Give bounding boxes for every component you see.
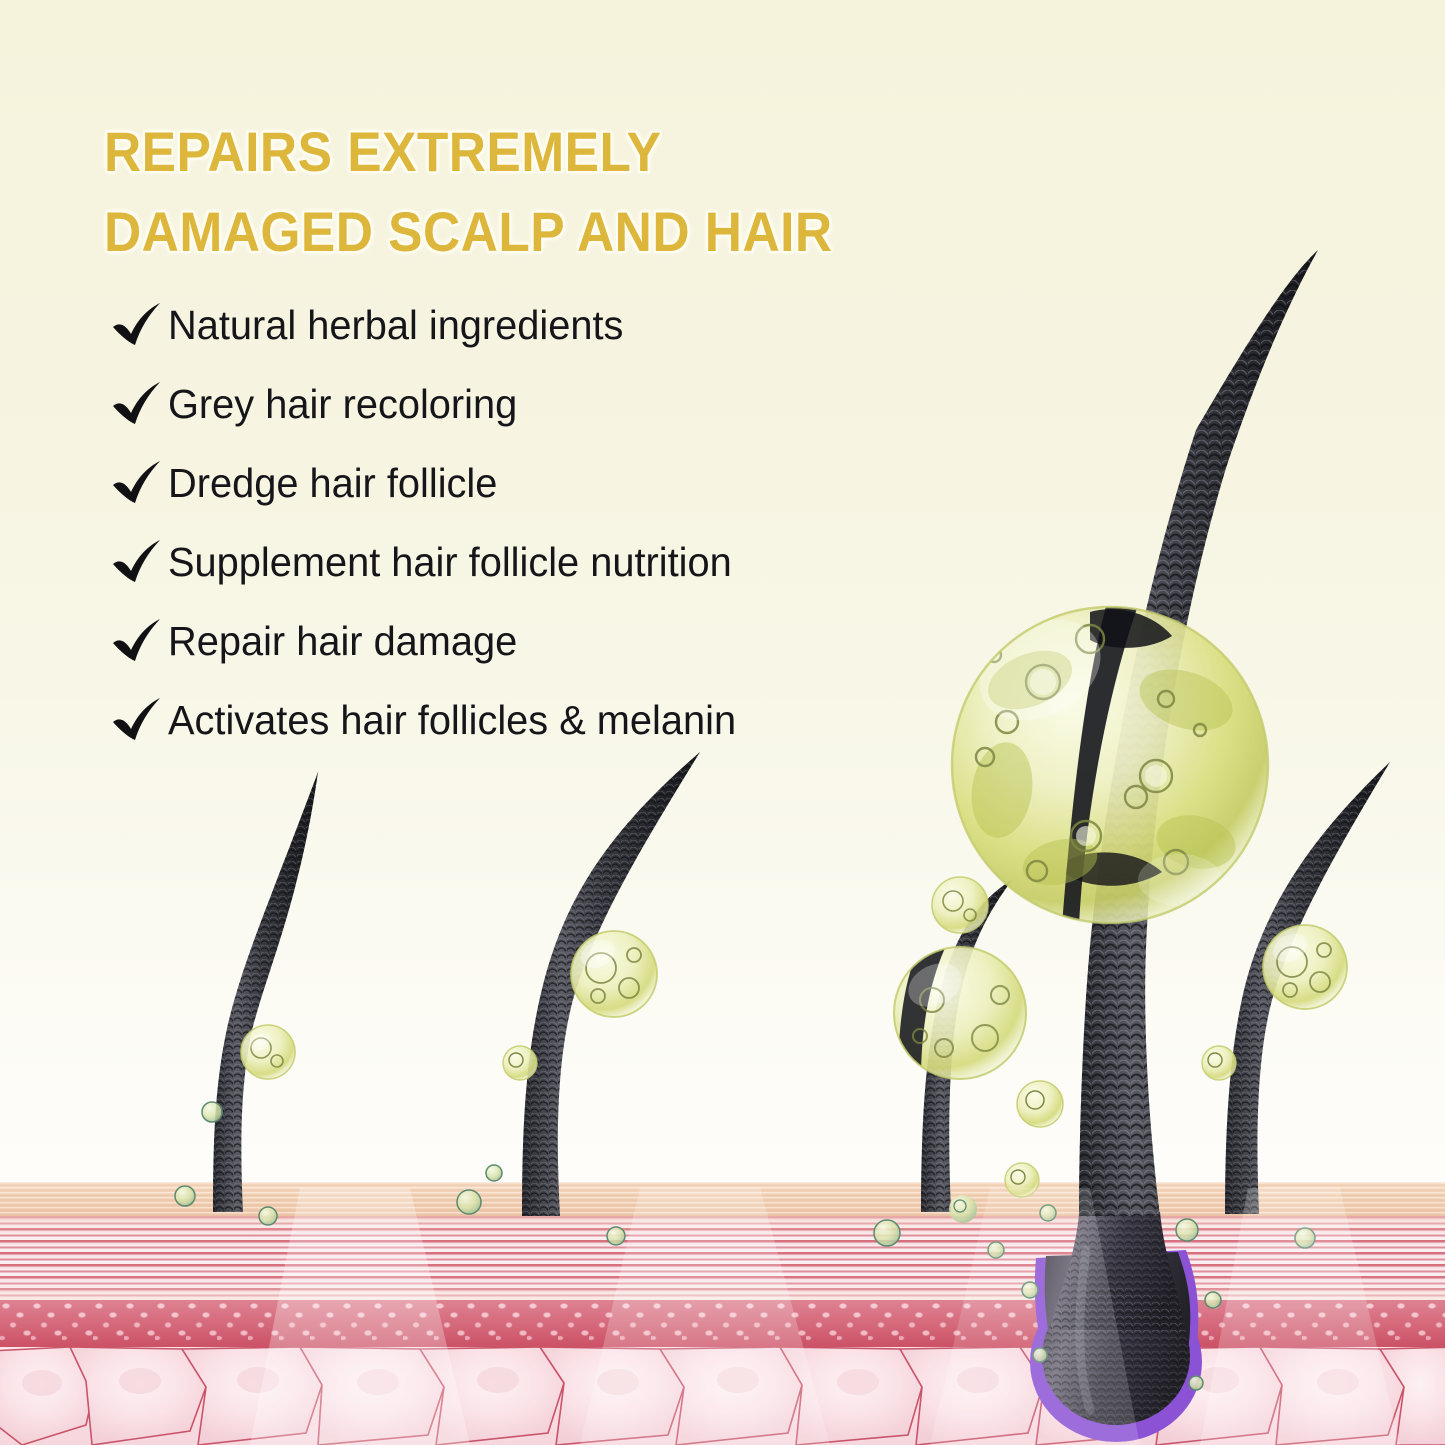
bubble-group <box>241 877 1347 1223</box>
check-mark-icon <box>110 695 164 747</box>
list-item-label: Supplement hair follicle nutrition <box>168 539 732 586</box>
check-mark-icon <box>110 300 164 352</box>
check-mark-icon <box>110 379 164 431</box>
bubble-small-a <box>503 1046 537 1080</box>
light-beams <box>250 1188 1400 1445</box>
list-item: Grey hair recoloring <box>110 365 970 444</box>
list-item: Repair hair damage <box>110 602 970 681</box>
bubble-hero <box>952 424 1268 925</box>
list-item: Activates hair follicles & melanin <box>110 681 970 760</box>
check-mark-icon <box>110 616 164 668</box>
hair-shaft-left <box>213 772 318 1212</box>
bubble-rt-sm <box>1202 1046 1236 1080</box>
list-item: Supplement hair follicle nutrition <box>110 523 970 602</box>
list-item-label: Grey hair recoloring <box>168 381 517 428</box>
list-item-label: Repair hair damage <box>168 618 517 665</box>
bubble-lo-c <box>932 877 988 933</box>
check-mark-icon <box>110 458 164 510</box>
list-item-label: Dredge hair follicle <box>168 460 497 507</box>
list-item-label: Natural herbal ingredients <box>168 302 623 349</box>
list-item-label: Activates hair follicles & melanin <box>168 697 736 744</box>
list-item: Natural herbal ingredients <box>110 286 970 365</box>
bubble-mid <box>571 931 657 1017</box>
bubble-right <box>1263 925 1347 1009</box>
bubble-mid-lo <box>1017 1081 1063 1127</box>
list-item: Dredge hair follicle <box>110 444 970 523</box>
bubble-lo-b <box>949 1195 977 1223</box>
promo-graphic: REPAIRS EXTREMELY DAMAGED SCALP AND HAIR… <box>0 0 1445 1445</box>
check-mark-icon <box>110 537 164 589</box>
benefits-list: Natural herbal ingredients Grey hair rec… <box>110 286 970 760</box>
bubble-left <box>241 1025 295 1079</box>
